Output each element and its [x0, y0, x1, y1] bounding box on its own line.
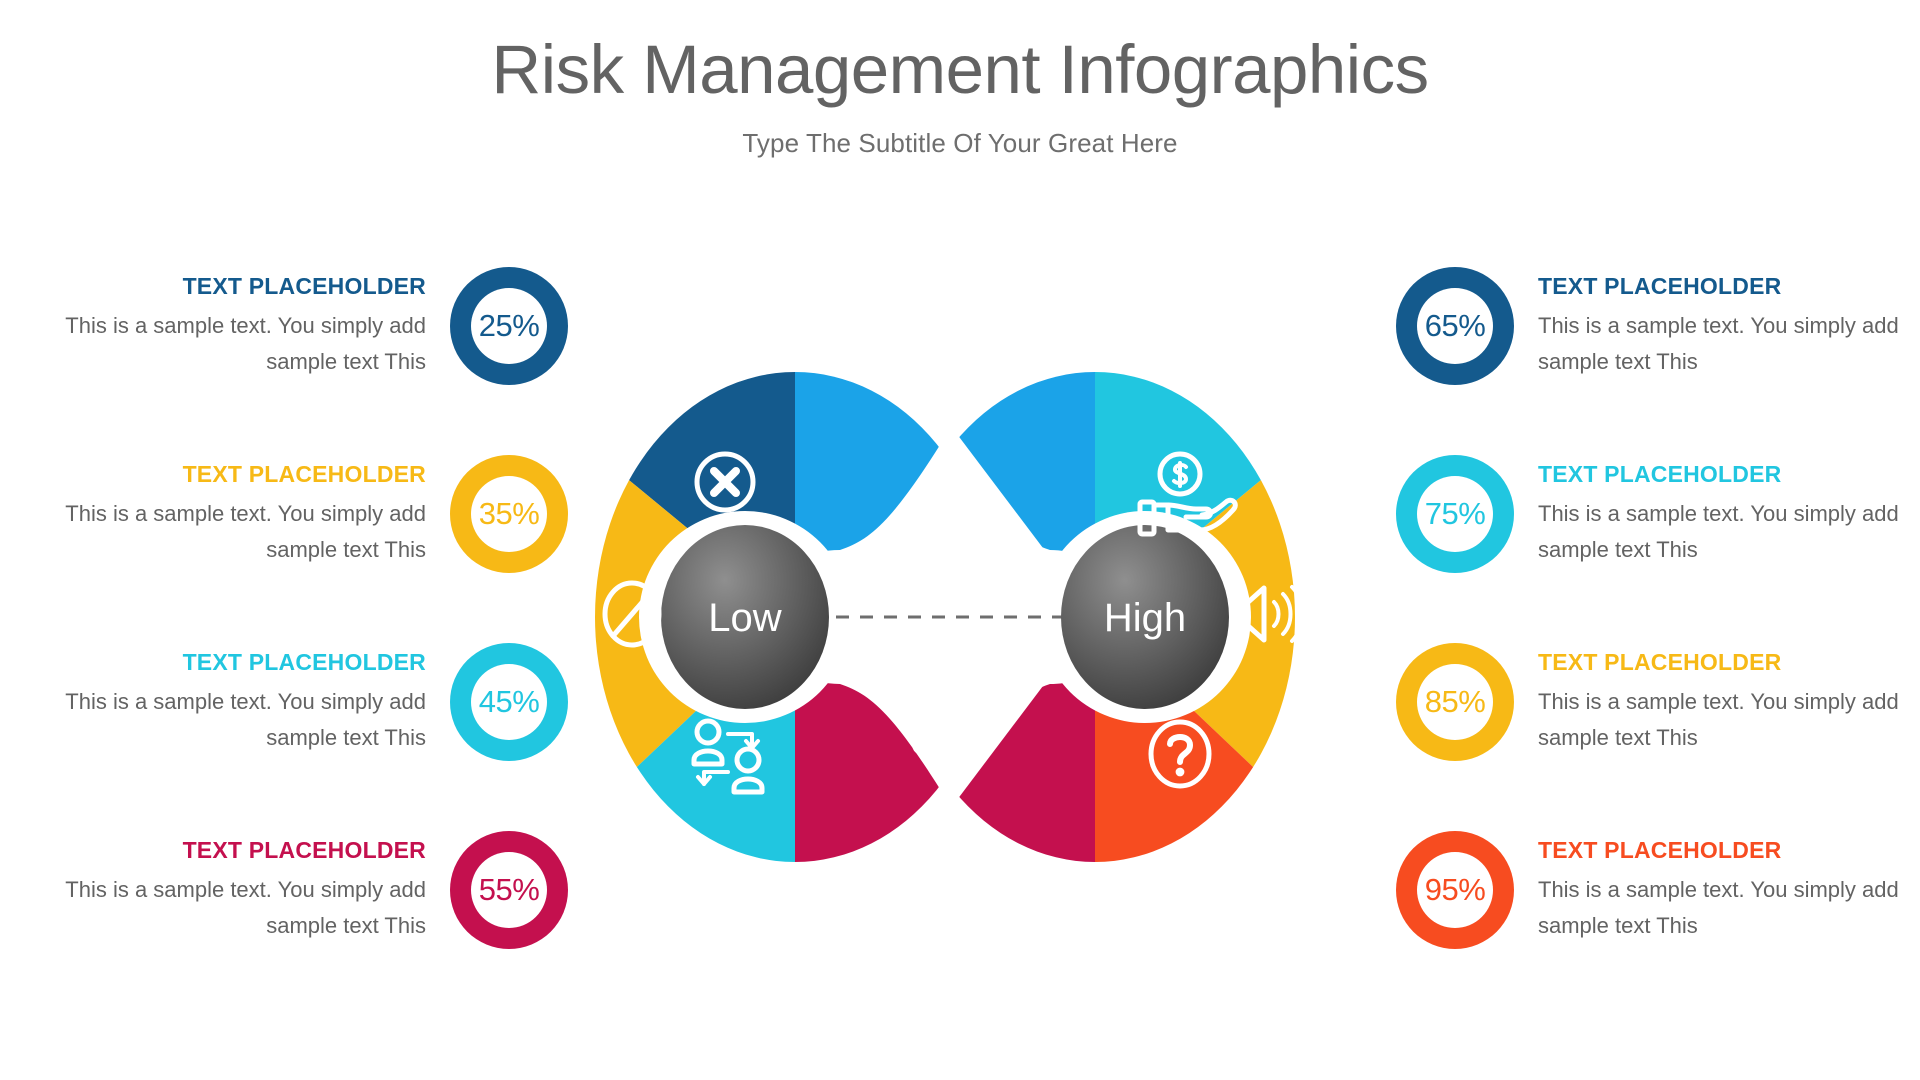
item-body: This is a sample text. You simply add sa…: [1538, 496, 1916, 567]
item-title: TEXT PLACEHOLDER: [48, 837, 426, 865]
donut-hole: 35%: [471, 476, 547, 552]
donut-hole: 25%: [471, 288, 547, 364]
left-items-column: TEXT PLACEHOLDER This is a sample text. …: [48, 262, 568, 954]
donut-hole: 45%: [471, 664, 547, 740]
item-text-block: TEXT PLACEHOLDER This is a sample text. …: [1514, 461, 1916, 568]
right-items-column: TEXT PLACEHOLDER This is a sample text. …: [1396, 262, 1916, 954]
risk-infinity-diagram: Low High: [540, 372, 1350, 862]
donut-hole: 85%: [1417, 664, 1493, 740]
item-text-block: TEXT PLACEHOLDER This is a sample text. …: [48, 837, 450, 944]
item-body: This is a sample text. You simply add sa…: [1538, 684, 1916, 755]
page-subtitle: Type The Subtitle Of Your Great Here: [0, 128, 1920, 159]
list-item[interactable]: TEXT PLACEHOLDER This is a sample text. …: [1396, 638, 1916, 766]
item-body: This is a sample text. You simply add sa…: [48, 872, 426, 943]
item-title: TEXT PLACEHOLDER: [48, 649, 426, 677]
low-hub-label: Low: [708, 596, 781, 640]
donut-value: 45%: [479, 684, 540, 720]
donut-value: 55%: [479, 872, 540, 908]
percent-donut[interactable]: 85%: [1396, 643, 1514, 761]
donut-value: 75%: [1425, 496, 1486, 532]
item-text-block: TEXT PLACEHOLDER This is a sample text. …: [48, 273, 450, 380]
list-item[interactable]: TEXT PLACEHOLDER This is a sample text. …: [1396, 826, 1916, 954]
donut-hole: 55%: [471, 852, 547, 928]
high-hub-label: High: [1104, 596, 1186, 640]
donut-value: 25%: [479, 308, 540, 344]
donut-value: 65%: [1425, 308, 1486, 344]
list-item[interactable]: TEXT PLACEHOLDER This is a sample text. …: [48, 826, 568, 954]
percent-donut[interactable]: 75%: [1396, 455, 1514, 573]
item-title: TEXT PLACEHOLDER: [48, 273, 426, 301]
item-text-block: TEXT PLACEHOLDER This is a sample text. …: [48, 461, 450, 568]
item-title: TEXT PLACEHOLDER: [1538, 837, 1916, 865]
percent-donut[interactable]: 25%: [450, 267, 568, 385]
list-item[interactable]: TEXT PLACEHOLDER This is a sample text. …: [1396, 262, 1916, 390]
list-item[interactable]: TEXT PLACEHOLDER This is a sample text. …: [48, 262, 568, 390]
item-title: TEXT PLACEHOLDER: [48, 461, 426, 489]
item-title: TEXT PLACEHOLDER: [1538, 273, 1916, 301]
list-item[interactable]: TEXT PLACEHOLDER This is a sample text. …: [1396, 450, 1916, 578]
list-item[interactable]: TEXT PLACEHOLDER This is a sample text. …: [48, 638, 568, 766]
item-text-block: TEXT PLACEHOLDER This is a sample text. …: [1514, 837, 1916, 944]
donut-value: 85%: [1425, 684, 1486, 720]
page-title: Risk Management Infographics: [0, 34, 1920, 106]
item-text-block: TEXT PLACEHOLDER This is a sample text. …: [1514, 273, 1916, 380]
percent-donut[interactable]: 95%: [1396, 831, 1514, 949]
percent-donut[interactable]: 65%: [1396, 267, 1514, 385]
item-text-block: TEXT PLACEHOLDER This is a sample text. …: [48, 649, 450, 756]
donut-hole: 95%: [1417, 852, 1493, 928]
item-body: This is a sample text. You simply add sa…: [1538, 872, 1916, 943]
item-title: TEXT PLACEHOLDER: [1538, 649, 1916, 677]
high-hub[interactable]: High: [1061, 525, 1229, 709]
donut-value: 35%: [479, 496, 540, 532]
list-item[interactable]: TEXT PLACEHOLDER This is a sample text. …: [48, 450, 568, 578]
low-hub[interactable]: Low: [661, 525, 829, 709]
item-text-block: TEXT PLACEHOLDER This is a sample text. …: [1514, 649, 1916, 756]
donut-value: 95%: [1425, 872, 1486, 908]
item-body: This is a sample text. You simply add sa…: [48, 308, 426, 379]
item-body: This is a sample text. You simply add sa…: [48, 684, 426, 755]
item-title: TEXT PLACEHOLDER: [1538, 461, 1916, 489]
donut-hole: 75%: [1417, 476, 1493, 552]
page-header: Risk Management Infographics Type The Su…: [0, 0, 1920, 159]
item-body: This is a sample text. You simply add sa…: [48, 496, 426, 567]
donut-hole: 65%: [1417, 288, 1493, 364]
item-body: This is a sample text. You simply add sa…: [1538, 308, 1916, 379]
